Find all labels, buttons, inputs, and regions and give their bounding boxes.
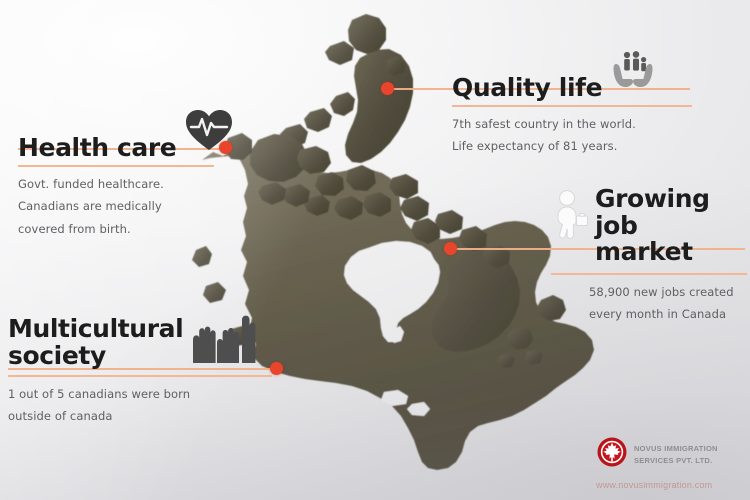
callout-title-line: Growing job (595, 186, 747, 239)
logo-name-line: SERVICES PVT. LTD. (634, 455, 718, 466)
callout-title-line: Multicultural (8, 316, 183, 343)
callout-multicultural: Multicultural society 1 out of 5 canadia… (8, 306, 272, 428)
callout-title-health-care: Health care (18, 135, 176, 161)
callout-rule-multicultural (8, 375, 272, 377)
company-logo[interactable]: NOVUS IMMIGRATION SERVICES PVT. LTD. www… (596, 436, 746, 490)
callout-line: 1 out of 5 canadians were born (8, 383, 272, 405)
logo-website-url[interactable]: www.novusimmigration.com (596, 480, 746, 490)
callout-rule-job-market (551, 273, 747, 275)
maple-leaf-badge-icon (596, 436, 628, 473)
heart-pulse-icon (184, 108, 234, 157)
callout-health-care: Health care Govt. funded healthcare. Can… (18, 108, 214, 240)
callout-body-quality-life: 7th safest country in the world. Life ex… (452, 113, 692, 158)
map-marker-job-market (444, 242, 457, 255)
callout-line: Canadians are medically (18, 195, 214, 217)
callout-line: outside of canada (8, 405, 272, 427)
callout-line: 58,900 new jobs created (589, 281, 747, 303)
person-with-briefcase-icon (551, 188, 589, 249)
callout-body-health-care: Govt. funded healthcare. Canadians are m… (18, 173, 214, 240)
logo-name-line: NOVUS IMMIGRATION (634, 443, 718, 454)
callout-line: every month in Canada (589, 303, 747, 325)
raised-hands-icon (189, 306, 261, 369)
map-marker-quality-life (381, 82, 394, 95)
callout-line: Life expectancy of 81 years. (452, 135, 692, 157)
callout-title-line: market (595, 239, 747, 266)
infographic-canvas: Health care Govt. funded healthcare. Can… (0, 0, 750, 500)
callout-rule-quality-life (452, 105, 692, 107)
logo-company-name: NOVUS IMMIGRATION SERVICES PVT. LTD. (634, 443, 718, 466)
callout-body-multicultural: 1 out of 5 canadians were born outside o… (8, 383, 272, 428)
callout-line: Govt. funded healthcare. (18, 173, 214, 195)
callout-body-job-market: 58,900 new jobs created every month in C… (589, 281, 747, 326)
callout-title-line: society (8, 343, 183, 370)
callout-title-job-market: Growing job market (595, 186, 747, 266)
callout-line: 7th safest country in the world. (452, 113, 692, 135)
callout-line: covered from birth. (18, 218, 214, 240)
hands-holding-family-icon (610, 48, 656, 99)
callout-title-quality-life: Quality life (452, 75, 602, 101)
callout-rule-health-care (18, 165, 214, 167)
callout-quality-life: Quality life (452, 48, 692, 158)
callout-job-market: Growing job market 58,900 new jobs creat… (551, 186, 747, 325)
callout-title-multicultural: Multicultural society (8, 316, 183, 369)
